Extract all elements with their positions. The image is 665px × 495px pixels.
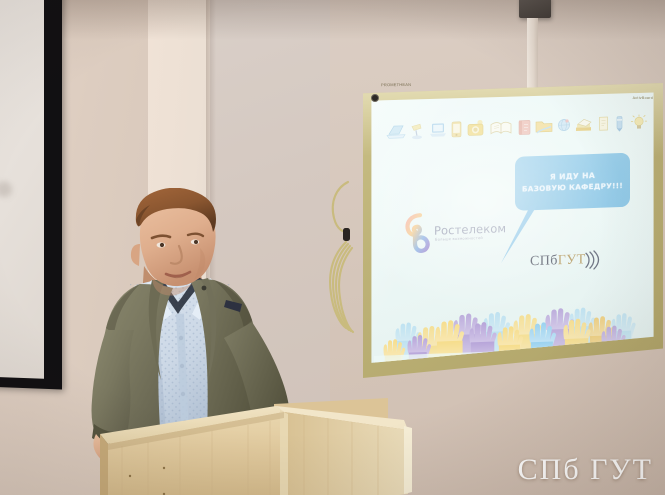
projection-screen-surface [0,0,44,379]
rostelecom-tagline: Больше возможностей [435,236,483,242]
lecture-hall-photo: Ростелеком Больше возможностей Я ИДУ НА … [0,0,665,495]
desk-lamp-icon [408,120,426,140]
interactive-whiteboard[interactable]: Ростелеком Больше возможностей Я ИДУ НА … [363,83,663,378]
laptop-icon [386,122,406,141]
whiteboard-brand-right: ActivBoard [633,96,653,100]
laptop-blue-icon [429,120,447,139]
stationery-icon-strip [386,110,648,143]
pen-icon [612,113,628,133]
books-stack-icon [574,114,594,134]
whiteboard-brand-label: PROMETHEAN [381,82,425,89]
globe-icon [556,116,572,135]
ceiling-shadow [0,0,665,40]
watermark: СПб ГУТ [518,453,653,487]
cable-trunking [527,18,538,93]
rostelecom-logo-text: Ростелеком [434,221,506,238]
camera-icon [465,118,487,139]
wall-speaker [519,0,551,18]
whiteboard-power-indicator [371,94,379,102]
bulb-icon [630,113,648,133]
notebook-icon [516,117,532,137]
folder-icon [534,116,554,136]
whiteboard-screen[interactable]: Ростелеком Больше возможностей Я ИДУ НА … [370,92,655,364]
wooden-lectern [52,398,452,495]
rostelecom-logo: Ростелеком Больше возможностей [404,209,504,255]
document-icon [597,114,610,133]
open-book-icon [489,118,513,137]
speech-bubble: Я ИДУ НА БАЗОВУЮ КАФЕДРУ!!! [515,153,630,211]
projection-screen-smudge [0,181,12,198]
speech-bubble-line-2: БАЗОВУЮ КАФЕДРУ!!! [515,181,630,194]
projected-slide: Ростелеком Больше возможностей Я ИДУ НА … [370,92,655,364]
rostelecom-mark-icon [404,212,430,255]
mobile-phone-icon [449,119,463,139]
